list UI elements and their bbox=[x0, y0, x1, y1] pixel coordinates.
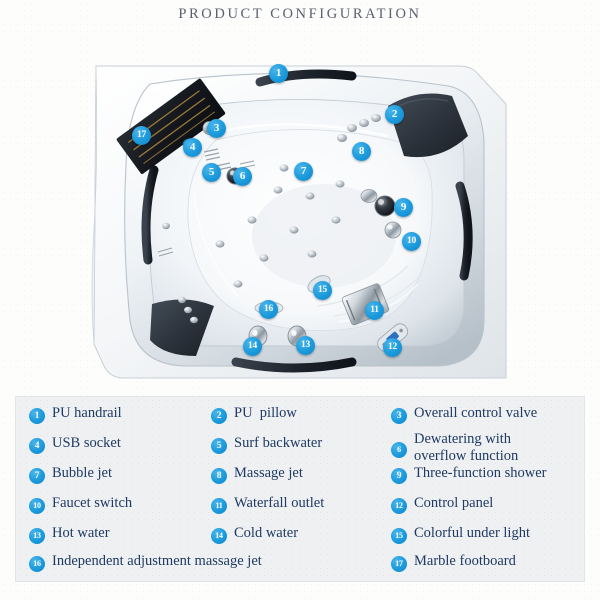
legend-item-1[interactable]: 1 PU handrail bbox=[29, 405, 122, 424]
legend-badge-14: 14 bbox=[211, 528, 227, 544]
legend-badge-13: 13 bbox=[29, 528, 45, 544]
legend-label-7: Bubble jet bbox=[52, 465, 112, 482]
legend-label-17: Marble footboard bbox=[414, 553, 516, 570]
legend-label-15: Colorful under light bbox=[414, 525, 530, 542]
legend-item-8[interactable]: 8 Massage jet bbox=[211, 465, 303, 484]
callout-marker-11[interactable]: 11 bbox=[365, 301, 384, 320]
legend-label-11: Waterfall outlet bbox=[234, 495, 324, 512]
legend-item-16[interactable]: 16 Independent adjustment massage jet bbox=[29, 553, 262, 572]
legend-item-5[interactable]: 5 Surf backwater bbox=[211, 435, 322, 454]
legend-badge-16: 16 bbox=[29, 556, 45, 572]
legend-label-8: Massage jet bbox=[234, 465, 303, 482]
legend-badge-6: 6 bbox=[391, 442, 407, 458]
callout-marker-4[interactable]: 4 bbox=[183, 138, 202, 157]
legend-label-2: PU pillow bbox=[234, 405, 297, 422]
legend-badge-5: 5 bbox=[211, 438, 227, 454]
legend-item-7[interactable]: 7 Bubble jet bbox=[29, 465, 112, 484]
legend-label-13: Hot water bbox=[52, 525, 110, 542]
callout-marker-9[interactable]: 9 bbox=[394, 198, 413, 217]
legend-badge-12: 12 bbox=[391, 498, 407, 514]
legend-panel: 1 PU handrail 2 PU pillow 3 Overall cont… bbox=[15, 396, 585, 582]
legend-label-6: Dewatering with overflow function bbox=[414, 431, 518, 465]
callout-marker-8[interactable]: 8 bbox=[352, 142, 371, 161]
legend-item-17[interactable]: 17 Marble footboard bbox=[391, 553, 516, 572]
callout-marker-1[interactable]: 1 bbox=[269, 64, 288, 83]
legend-badge-1: 1 bbox=[29, 408, 45, 424]
callout-marker-17[interactable]: 17 bbox=[132, 126, 151, 145]
legend-item-2[interactable]: 2 PU pillow bbox=[211, 405, 297, 424]
legend-item-11[interactable]: 11 Waterfall outlet bbox=[211, 495, 324, 514]
callout-marker-13[interactable]: 13 bbox=[296, 336, 315, 355]
legend-item-13[interactable]: 13 Hot water bbox=[29, 525, 110, 544]
legend-item-6[interactable]: 6 Dewatering with overflow function bbox=[391, 431, 518, 465]
legend-label-9: Three-function shower bbox=[414, 465, 546, 482]
legend-label-5: Surf backwater bbox=[234, 435, 322, 452]
legend-badge-4: 4 bbox=[29, 438, 45, 454]
legend-badge-10: 10 bbox=[29, 498, 45, 514]
legend-label-16: Independent adjustment massage jet bbox=[52, 553, 262, 570]
bathtub-illustration: 1 2 3 4 5 6 7 8 9 10 11 12 13 14 15 16 1… bbox=[88, 44, 518, 392]
legend-label-14: Cold water bbox=[234, 525, 298, 542]
legend-label-4: USB socket bbox=[52, 435, 121, 452]
legend-item-9[interactable]: 9 Three-function shower bbox=[391, 465, 546, 484]
legend-badge-15: 15 bbox=[391, 528, 407, 544]
callout-marker-7[interactable]: 7 bbox=[294, 162, 313, 181]
legend-badge-17: 17 bbox=[391, 556, 407, 572]
page-title: PRODUCT CONFIGURATION bbox=[0, 6, 600, 23]
callout-marker-6[interactable]: 6 bbox=[233, 167, 252, 186]
callout-marker-3[interactable]: 3 bbox=[207, 119, 226, 138]
legend-badge-11: 11 bbox=[211, 498, 227, 514]
legend-item-10[interactable]: 10 Faucet switch bbox=[29, 495, 132, 514]
legend-badge-8: 8 bbox=[211, 468, 227, 484]
legend-label-10: Faucet switch bbox=[52, 495, 132, 512]
callout-marker-15[interactable]: 15 bbox=[313, 281, 332, 300]
callout-marker-14[interactable]: 14 bbox=[243, 337, 262, 356]
callout-marker-12[interactable]: 12 bbox=[383, 338, 402, 357]
legend-item-14[interactable]: 14 Cold water bbox=[211, 525, 298, 544]
callout-marker-5[interactable]: 5 bbox=[202, 163, 221, 182]
callout-marker-2[interactable]: 2 bbox=[385, 105, 404, 124]
legend-item-15[interactable]: 15 Colorful under light bbox=[391, 525, 530, 544]
product-configuration-page: PRODUCT CONFIGURATION bbox=[0, 0, 600, 600]
callout-marker-16[interactable]: 16 bbox=[259, 300, 278, 319]
legend-badge-3: 3 bbox=[391, 408, 407, 424]
legend-item-4[interactable]: 4 USB socket bbox=[29, 435, 121, 454]
legend-item-3[interactable]: 3 Overall control valve bbox=[391, 405, 537, 424]
legend-label-12: Control panel bbox=[414, 495, 493, 512]
legend-badge-9: 9 bbox=[391, 468, 407, 484]
legend-item-12[interactable]: 12 Control panel bbox=[391, 495, 493, 514]
legend-badge-2: 2 bbox=[211, 408, 227, 424]
callout-marker-10[interactable]: 10 bbox=[402, 232, 421, 251]
legend-label-3: Overall control valve bbox=[414, 405, 537, 422]
legend-label-1: PU handrail bbox=[52, 405, 122, 422]
legend-badge-7: 7 bbox=[29, 468, 45, 484]
